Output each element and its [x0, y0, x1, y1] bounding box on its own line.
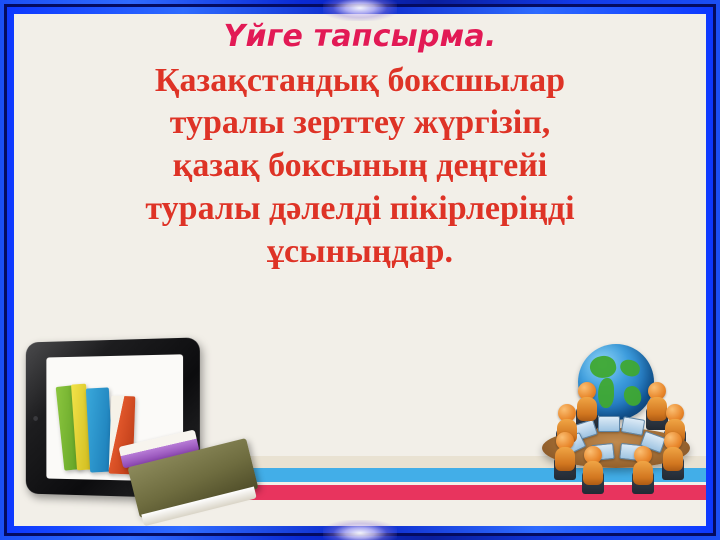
- slide-text-block: Үйге тапсырма. Қазақстандық боксшылар ту…: [14, 18, 706, 274]
- continent-shape: [618, 358, 641, 378]
- continent-shape: [598, 378, 614, 408]
- continent-shape: [623, 385, 643, 407]
- tablet-with-books-illustration: [16, 334, 266, 512]
- person-body: [577, 397, 597, 421]
- person-figure: [576, 382, 598, 426]
- meeting-globe-illustration: [536, 342, 696, 512]
- body-line-5: ұсыныңдар.: [14, 231, 706, 274]
- person-body: [555, 447, 575, 471]
- person-body: [583, 461, 603, 485]
- person-figure: [632, 446, 654, 490]
- person-body: [663, 447, 683, 471]
- person-figure: [582, 446, 604, 490]
- body-line-1: Қазақстандық боксшылар: [14, 60, 706, 103]
- person-figure: [554, 432, 576, 476]
- person-body: [633, 461, 653, 485]
- page-title: Үйге тапсырма.: [14, 18, 706, 56]
- person-figure: [662, 432, 684, 476]
- body-line-4: туралы дәлелді пікірлеріңді: [14, 188, 706, 231]
- presentation-slide: Үйге тапсырма. Қазақстандық боксшылар ту…: [0, 0, 720, 540]
- tablet-camera-icon: [33, 416, 38, 421]
- body-line-2: туралы зерттеу жүргізіп,: [14, 102, 706, 145]
- body-line-3: қазақ боксының деңгейі: [14, 145, 706, 188]
- laptop-icon: [598, 416, 620, 432]
- slide-content-area: Үйге тапсырма. Қазақстандық боксшылар ту…: [14, 14, 706, 526]
- continent-shape: [588, 354, 618, 381]
- book-pages: [141, 487, 256, 526]
